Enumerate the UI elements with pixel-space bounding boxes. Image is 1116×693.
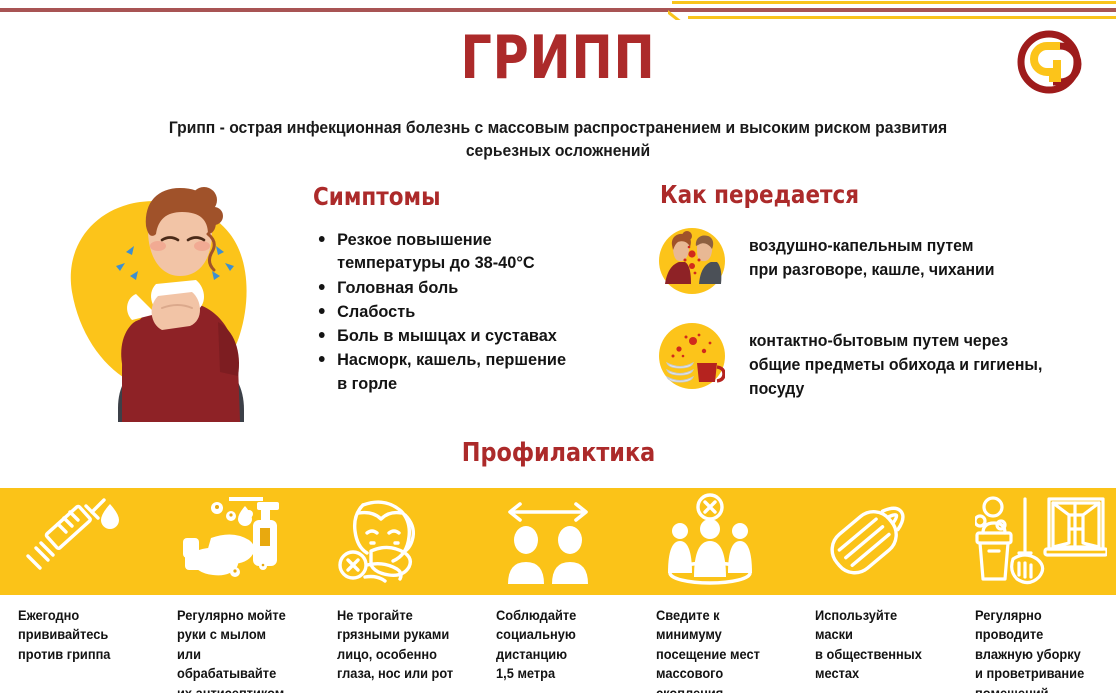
bullet-dot bbox=[319, 332, 325, 338]
transmission-heading: Как передается bbox=[660, 180, 859, 209]
symptoms-heading: Симптомы bbox=[313, 182, 441, 211]
prevention-icon-cell bbox=[797, 493, 921, 590]
prevention-icon-cell bbox=[478, 494, 600, 589]
avoid-crowds-icon bbox=[656, 493, 764, 585]
social-distance-icon bbox=[496, 494, 600, 584]
prevention-caption: Используйте маски в общественных местах bbox=[797, 606, 948, 684]
prevention-icon-cell bbox=[0, 494, 126, 589]
prevention-caption: Сведите к минимуму посещение мест массов… bbox=[638, 606, 789, 693]
prevention-caption: Ежегодно прививайтесь против гриппа bbox=[0, 606, 151, 664]
prevention-heading: Профилактика bbox=[0, 438, 1116, 468]
sc-monogram-logo-icon bbox=[1016, 29, 1082, 95]
prevention-icon-cell bbox=[319, 493, 441, 590]
symptom-text: Головная боль bbox=[337, 278, 458, 297]
symptoms-list: Резкое повышение температуры до 38-40°C … bbox=[316, 228, 616, 396]
bullet-dot bbox=[319, 236, 325, 242]
face-mask-icon bbox=[815, 493, 921, 585]
top-yellow-rule-left bbox=[672, 1, 1116, 4]
cleaning-ventilation-icon bbox=[975, 493, 1107, 585]
transmission-text: воздушно-капельным путем при разговоре, … bbox=[749, 228, 994, 283]
prevention-caption: Регулярно мойте руки с мылом или обрабат… bbox=[159, 606, 310, 693]
list-item: Резкое повышение температуры до 38-40°C bbox=[316, 228, 604, 275]
symptom-text: Слабость bbox=[337, 302, 415, 321]
page-title: ГРИПП bbox=[100, 28, 1015, 89]
symptom-text: Боль в мышцах и суставах bbox=[337, 326, 557, 345]
prevention-caption-row: Ежегодно прививайтесь против гриппа Регу… bbox=[0, 606, 1116, 693]
transmission-row: воздушно-капельным путем при разговоре, … bbox=[659, 228, 1005, 294]
infographic-page: ГРИПП Грипп - острая инфекционная болезн… bbox=[0, 0, 1116, 693]
prevention-icon-cell bbox=[159, 494, 289, 589]
hand-washing-soap-icon bbox=[177, 494, 289, 584]
list-item: Боль в мышцах и суставах bbox=[316, 324, 604, 347]
prevention-icon-cell bbox=[638, 493, 764, 590]
bullet-dot bbox=[319, 308, 325, 314]
list-item: Головная боль bbox=[316, 276, 604, 299]
list-item: Насморк, кашель, першение в горле bbox=[316, 348, 604, 395]
prevention-icon-cell bbox=[957, 493, 1107, 590]
top-red-rule bbox=[0, 8, 1116, 12]
bullet-dot bbox=[319, 284, 325, 290]
no-touching-face-icon bbox=[337, 493, 441, 585]
dishes-and-mug-contamination-icon bbox=[659, 323, 725, 389]
syringe-vaccine-icon bbox=[18, 494, 126, 584]
prevention-caption: Регулярно проводите влажную уборку и про… bbox=[957, 606, 1108, 693]
prevention-caption: Не трогайте грязными руками лицо, особен… bbox=[319, 606, 470, 684]
two-people-talking-droplets-icon bbox=[659, 228, 725, 294]
list-item: Слабость bbox=[316, 300, 604, 323]
transmission-text: контактно-бытовым путем через общие пред… bbox=[749, 323, 1042, 402]
prevention-icon-row bbox=[0, 488, 1116, 595]
symptom-text: Резкое повышение температуры до 38-40°C bbox=[337, 230, 535, 272]
top-yellow-rule-right bbox=[688, 16, 1116, 19]
symptom-text: Насморк, кашель, першение в горле bbox=[337, 350, 566, 392]
woman-sneezing-illustration bbox=[62, 172, 288, 422]
page-subtitle: Грипп - острая инфекционная болезнь с ма… bbox=[159, 117, 957, 164]
bullet-dot bbox=[319, 356, 325, 362]
transmission-row: контактно-бытовым путем через общие пред… bbox=[659, 323, 1055, 402]
prevention-caption: Соблюдайте социальную дистанцию 1,5 метр… bbox=[478, 606, 629, 684]
